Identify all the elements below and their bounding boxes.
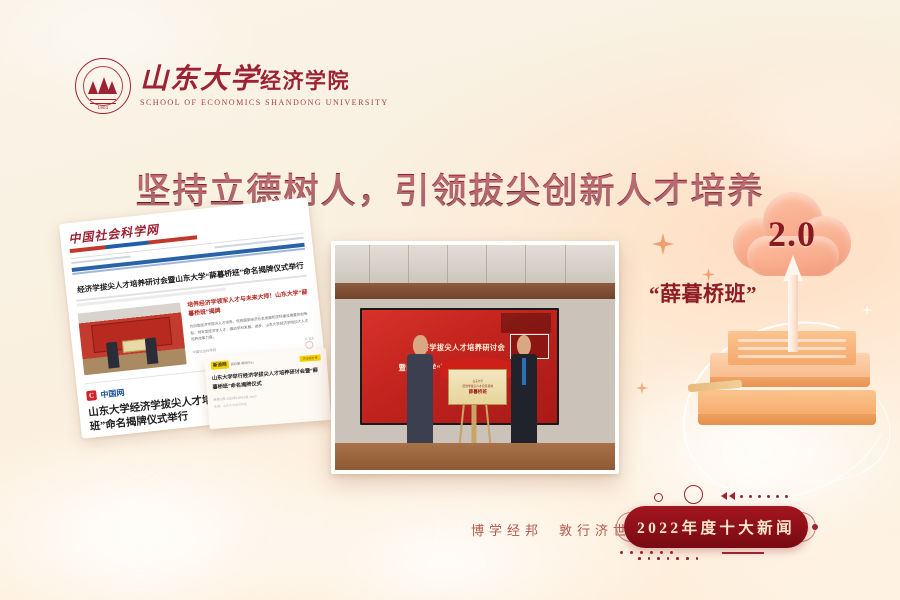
sparkle-icon-1 (652, 233, 674, 255)
news-card-category: 高校圈·新闻中心 (230, 360, 254, 367)
plaque-line-1: 山东大学 (473, 379, 483, 383)
badge-underline-decor (722, 552, 764, 554)
logo-text-group: 山东大学经济学院 SCHOOL OF ECONOMICS SHANDONG UN… (140, 65, 389, 107)
news-card-headline: 山东大学举行经济学拔尖人才培养研讨会暨“薛暮桥班”命名揭牌仪式 (212, 366, 323, 393)
plaque-line-3: 薛暮桥班 (469, 389, 487, 395)
logo-name-main: 山东大学 (140, 64, 260, 95)
book-bottom (698, 390, 876, 416)
wave-icon (90, 99, 116, 104)
rewind-arrows-icon (721, 492, 735, 500)
motto-part-1: 博学经邦 (471, 523, 543, 538)
mountain-icon (88, 74, 118, 94)
badge-label: 2022年度十大新闻 (637, 516, 795, 538)
news-card-brand: 新浪网 高校圈·新闻中心 (211, 359, 255, 370)
plaque-line-2: 经济学拔尖人才培养基地 (462, 384, 493, 388)
cloud-decor-bottom-left (0, 430, 350, 600)
news-card-follow-button[interactable]: 关注官方号 (299, 354, 320, 362)
poster-root: 1901 山东大学经济学院 SCHOOL OF ECONOMICS SHANDO… (0, 0, 900, 600)
photo-wall-trim (335, 283, 615, 299)
seal-year: 1901 (97, 105, 108, 110)
dot-row-top (740, 495, 788, 498)
university-seal-icon: 1901 (75, 58, 131, 114)
logo-name-cn: 山东大学经济学院 (140, 65, 389, 95)
logo-name-en: SCHOOL OF ECONOMICS SHANDONG UNIVERSITY (140, 98, 389, 107)
arrow-shaft (788, 275, 798, 352)
dot-row-bottom-2 (638, 557, 698, 560)
news-screenshot-stack: 中国社会科学网 经济学拔尖人才培养研讨会暨山东大学“薛暮桥班”命名揭牌仪式举行 (59, 197, 331, 443)
person-tie (522, 358, 526, 386)
ceremony-photo: 经济学拔尖人才培养研讨会 暨山东大学“薛暮桥班”命名揭牌仪式 山东大学 经济学拔… (335, 245, 615, 470)
logo-name-sub: 经济学院 (260, 69, 350, 93)
class-name-label: “薛暮桥班” (628, 278, 778, 308)
dot-row-bottom-1 (620, 551, 673, 554)
school-motto: 博学经邦敦行济世 (455, 520, 631, 539)
news-source-label: 中国社会科学网 (192, 347, 216, 355)
news-secondary-logo-icon: C (86, 390, 97, 401)
photo-floor (335, 443, 615, 470)
circle-decor-small-icon (654, 493, 663, 502)
news-award-badge: 2022年度十大新闻 (616, 495, 816, 557)
circle-decor-large-icon (684, 485, 703, 504)
ceremony-photo-frame: 经济学拔尖人才培养研讨会 暨山东大学“薛暮桥班”命名揭牌仪式 山东大学 经济学拔… (331, 241, 619, 474)
news-card-logo-icon: 新浪网 (211, 360, 229, 369)
photo-ceiling (335, 245, 615, 283)
news-thumbnail (78, 302, 187, 375)
photo-plaque: 山东大学 经济学拔尖人才培养基地 薛暮桥班 (448, 369, 507, 405)
news-screenshot-card: 新浪网 高校圈·新闻中心 关注官方号 山东大学举行经济学拔尖人才培养研讨会暨“薛… (204, 348, 331, 429)
university-logo: 1901 山东大学经济学院 SCHOOL OF ECONOMICS SHANDO… (75, 58, 389, 114)
sparkle-icon-3 (636, 382, 648, 394)
class-emblem-graphic: 2.0 “薛暮桥班” (690, 185, 890, 485)
screen-toolbar (501, 313, 552, 332)
version-label: 2.0 (733, 199, 851, 269)
book-bottom-spine (698, 414, 876, 425)
news-secondary-brand-name: 中国网 (100, 387, 125, 401)
badge-pill: 2022年度十大新闻 (624, 506, 808, 548)
badge-end-dot-icon (812, 524, 818, 530)
